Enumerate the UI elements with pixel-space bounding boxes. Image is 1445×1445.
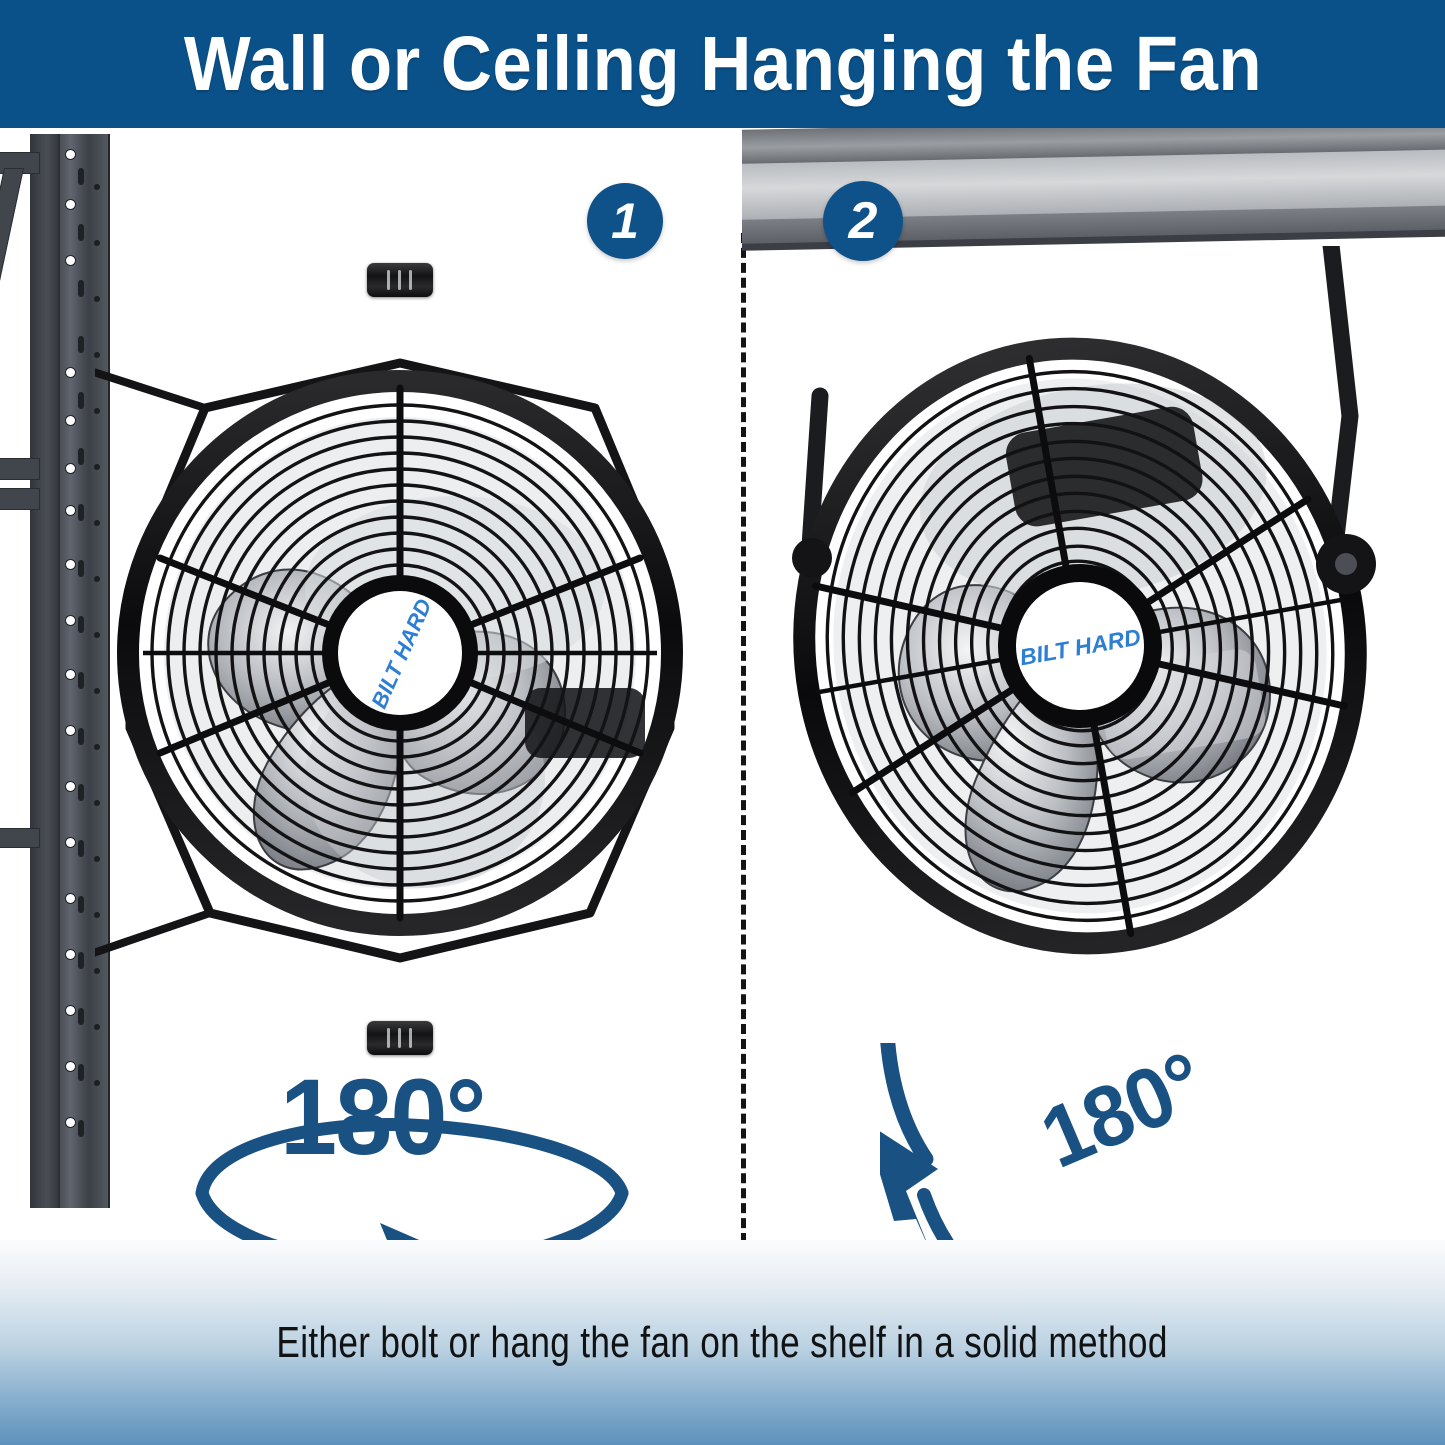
ceiling-fan-assembly: BILT HARD [790,246,1410,1036]
rotation-indicator-vertical: 180° [880,1043,1240,1240]
rack-slot [78,1120,84,1137]
wall-fan-graphic: BILT HARD [95,258,705,1078]
rack-rivet [94,184,100,190]
wall-fan-assembly: BILT HARD [95,258,705,1078]
step-1-badge[interactable]: 1 [587,183,663,259]
rack-brace-low [0,488,40,510]
rack-slot [78,728,84,745]
step-2-badge[interactable]: 2 [823,181,903,261]
rack-hole [66,256,75,265]
rack-hole [66,200,75,209]
bottom-tilt-knob[interactable] [367,1021,433,1055]
rack-rivet [94,1080,100,1086]
rack-hole [66,464,75,473]
rack-hole [66,1062,75,1071]
rack-hole [66,416,75,425]
rack-hole [66,1006,75,1015]
main-illustration-area: BILT HARD [0,128,1445,1240]
rack-slot [78,1008,84,1025]
vertical-rotation-arrow [880,1043,1240,1240]
rack-rivet [94,240,100,246]
rack-slot [78,952,84,969]
rack-slot [78,784,84,801]
rack-slot [78,280,84,297]
horizontal-rotation-arrow [170,1063,650,1240]
rack-brace-mid [0,458,40,480]
rack-slot [78,840,84,857]
rack-brace-bot [0,828,40,848]
rack-slot [78,504,84,521]
rack-hole [66,1118,75,1127]
rack-hole [66,782,75,791]
rack-slot [78,392,84,409]
rack-hole [66,894,75,903]
rack-hole [66,950,75,959]
rack-brace-diag [0,168,24,488]
rack-slot [78,560,84,577]
rack-slot [78,616,84,633]
footer-caption-bar: Either bolt or hang the fan on the shelf… [0,1240,1445,1445]
top-tilt-knob[interactable] [367,263,433,297]
rack-slot [78,1064,84,1081]
ceiling-fan-graphic: BILT HARD [790,246,1410,1036]
left-pivot-bolt [792,538,832,578]
panel-divider [741,233,746,1240]
rack-hole [66,368,75,377]
footer-caption: Either bolt or hang the fan on the shelf… [277,1318,1168,1368]
rack-hole [66,560,75,569]
rack-inner-flange [30,134,60,1208]
fan-guard-assembly: BILT HARD [790,305,1403,987]
page-title: Wall or Ceiling Hanging the Fan [183,26,1261,103]
tilt-pivot-center [1335,553,1357,575]
rack-hole [66,838,75,847]
rack-slot [78,896,84,913]
rack-hole [66,150,75,159]
rack-hole [66,506,75,515]
rotation-indicator-horizontal: 180° [170,1063,650,1240]
header-banner: Wall or Ceiling Hanging the Fan [0,0,1445,128]
rack-hole [66,616,75,625]
rack-hole [66,670,75,679]
rack-hole [66,726,75,735]
rack-slot [78,448,84,465]
rack-slot [78,672,84,689]
infographic-root: Wall or Ceiling Hanging the Fan [0,0,1445,1445]
rack-slot [78,168,84,185]
rack-slot [78,336,84,353]
rack-slot [78,224,84,241]
